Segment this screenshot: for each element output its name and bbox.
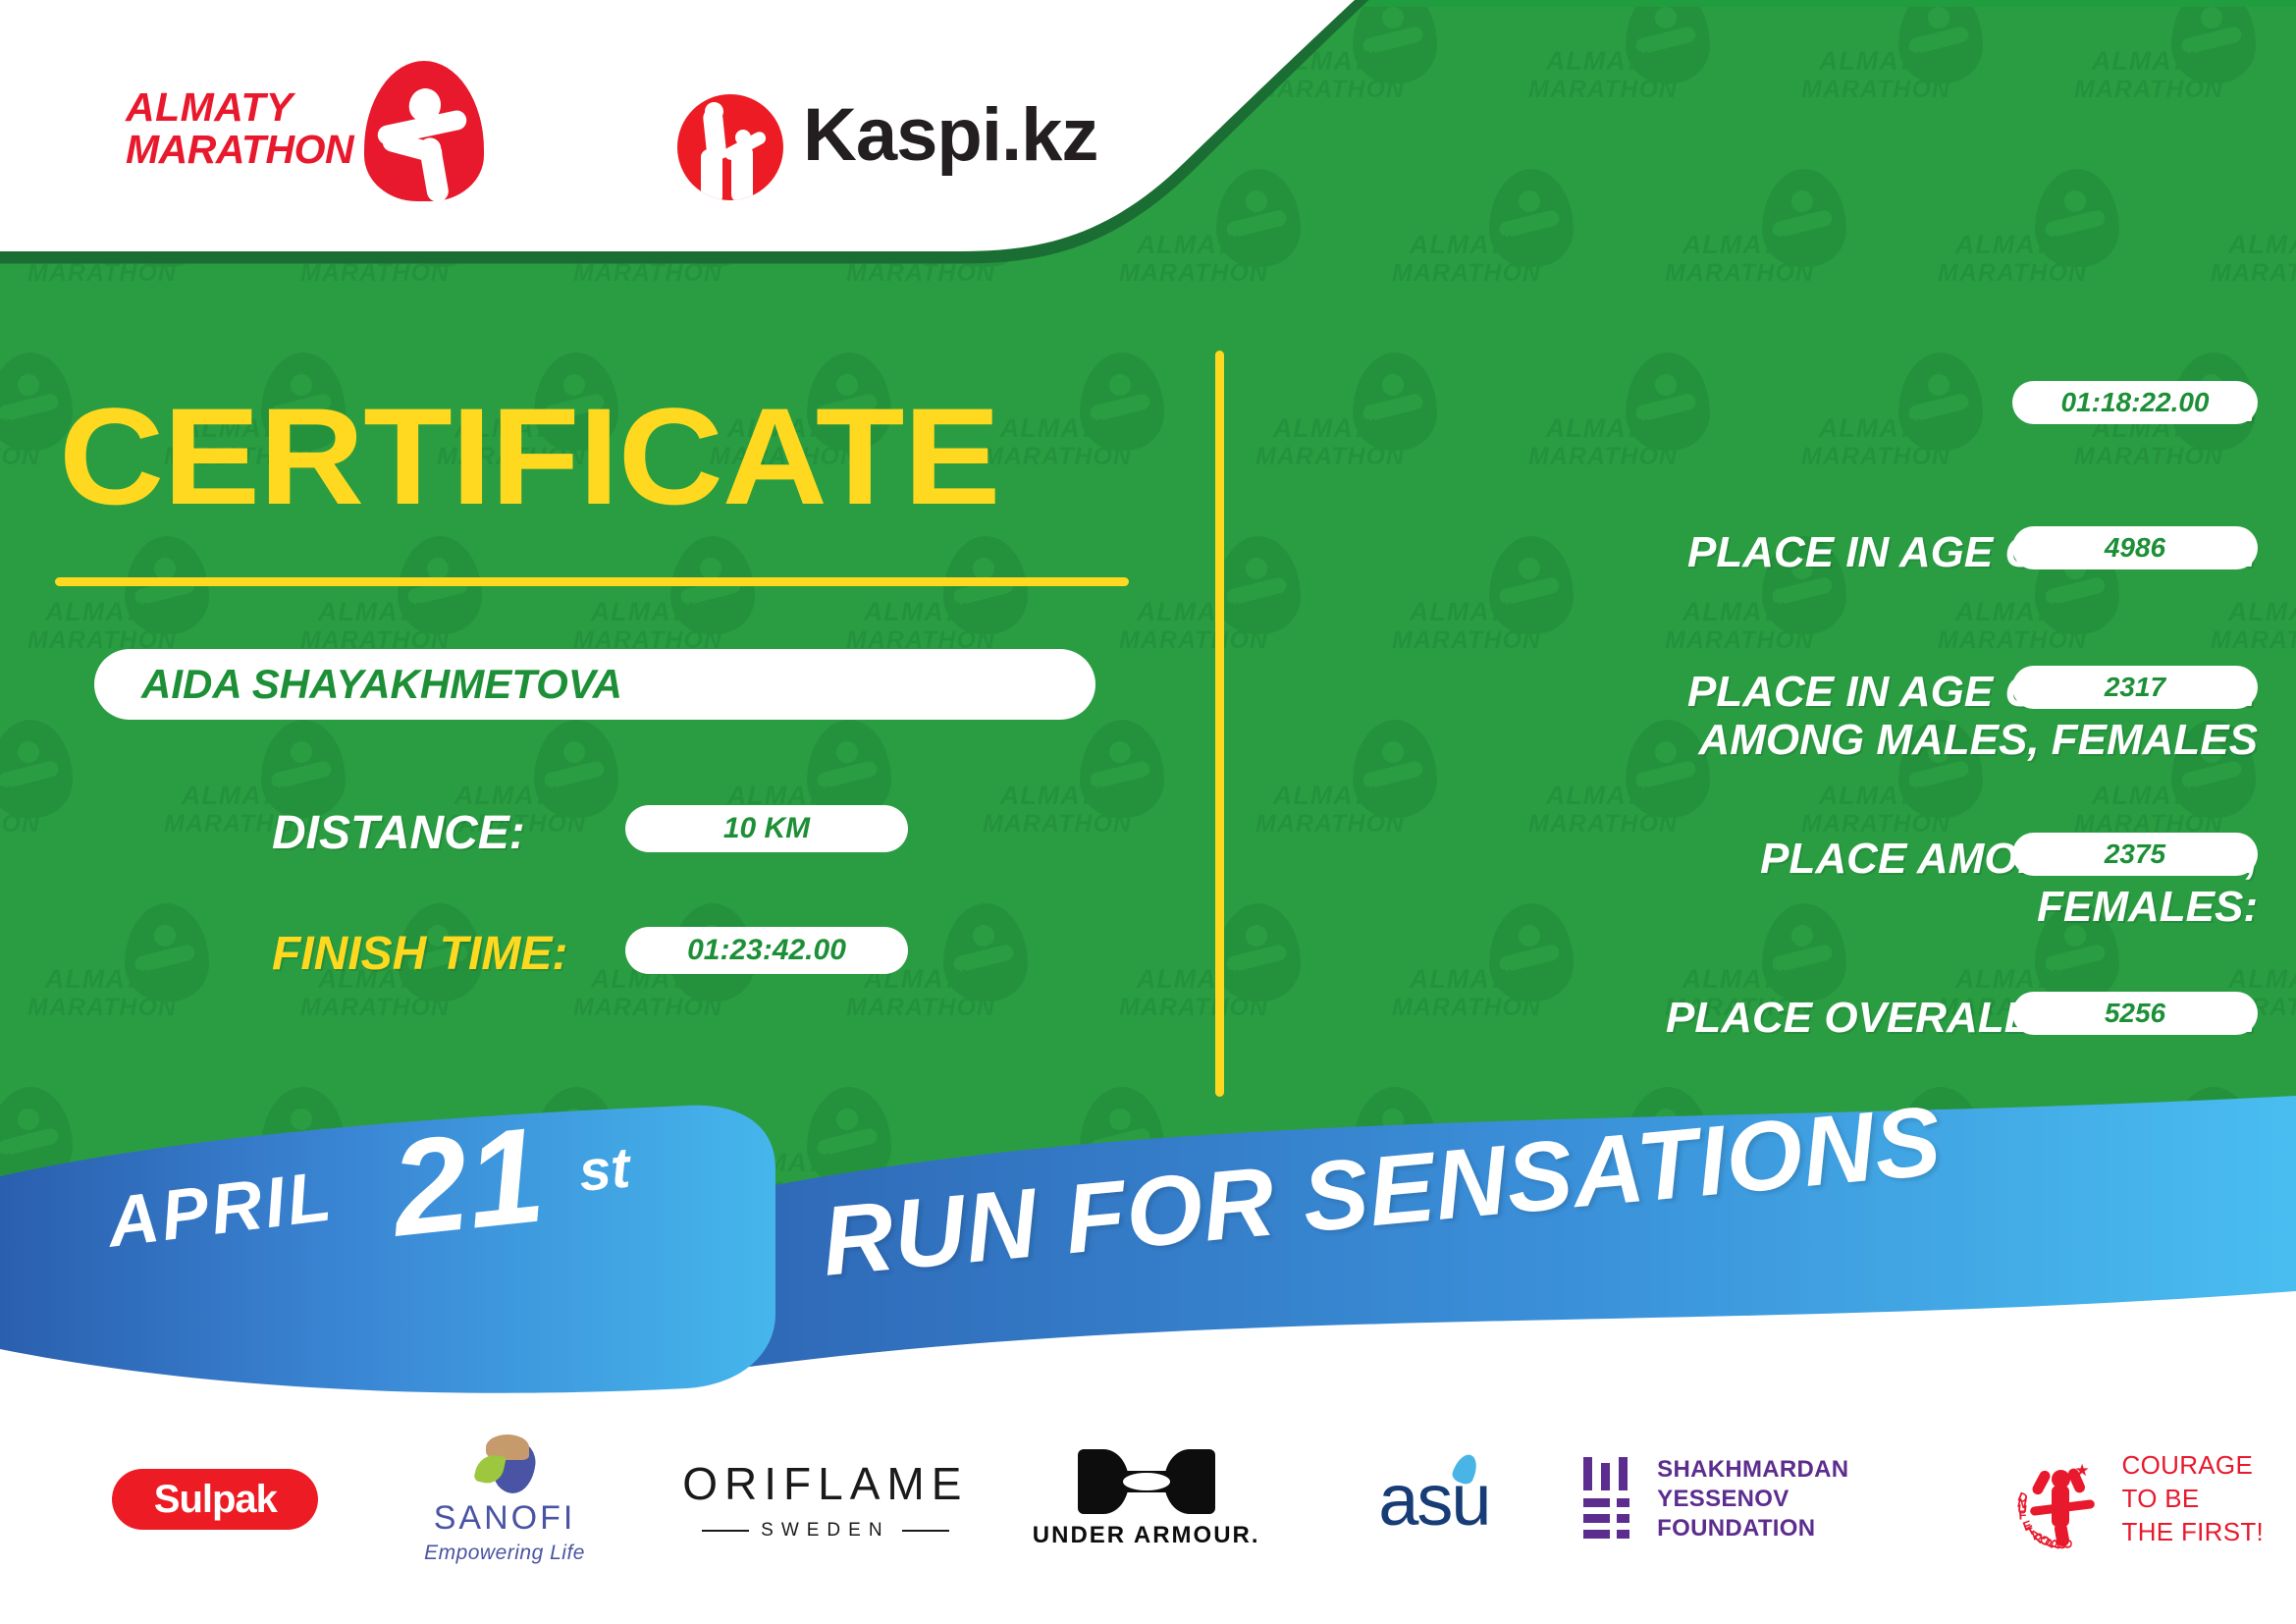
- asu-wordmark: asu: [1378, 1458, 1489, 1542]
- watermark-line2: MARATHON: [1929, 261, 2096, 286]
- watermark-tile: ALMATYMARATHON: [974, 345, 1200, 492]
- watermark-line2: MARATHON: [1247, 812, 1414, 837]
- sponsor-courage-fund: CORPORATE FUND ★ COURAGE TO BE THE FIRST…: [1982, 1449, 2296, 1548]
- column-divider: [1215, 351, 1224, 1097]
- watermark-tile: ALMATYMARATHON: [1520, 7, 1745, 125]
- watermark-line1: ALMATY: [1247, 783, 1414, 809]
- courage-line1: COURAGE: [2122, 1449, 2265, 1483]
- watermark-line1: ALMATY: [1929, 966, 2096, 993]
- watermark-line1: ALMATY: [1792, 783, 1959, 809]
- watermark-line2: MARATHON: [1656, 261, 1823, 286]
- stat-value: 01:18:22.00: [2012, 381, 2258, 424]
- courage-line2: TO BE: [2122, 1483, 2265, 1516]
- watermark-line1: ALMATY: [1656, 966, 1823, 993]
- finish-time-label: FINISH TIME:: [272, 931, 567, 978]
- watermark-line1: ALMATY: [564, 599, 731, 625]
- courage-line3: THE FIRST!: [2122, 1516, 2265, 1549]
- watermark-tile: ALMATYMARATHON: [1383, 161, 1609, 308]
- watermark-line1: ALMATY: [19, 599, 186, 625]
- stat-value: 4986: [2012, 526, 2258, 569]
- sponsor-sanofi: SANOFI Empowering Life: [366, 1435, 644, 1565]
- watermark-line1: ALMATY: [2065, 783, 2232, 809]
- yessenov-icon: [1583, 1457, 1637, 1542]
- watermark-line1: ALMATY: [2202, 599, 2296, 625]
- watermark-line2: MARATHON: [2202, 628, 2296, 653]
- sponsor-sulpak: Sulpak: [77, 1469, 354, 1530]
- oriflame-rule-right: [902, 1530, 949, 1532]
- watermark-line2: MARATHON: [2065, 78, 2232, 102]
- watermark-line1: ALMATY: [0, 783, 49, 809]
- watermark-tile: ALMATYMARATHON: [1656, 161, 1882, 308]
- marathon-line: MARATHON: [126, 129, 391, 171]
- watermark-line2: MARATHON: [19, 996, 186, 1020]
- watermark-line2: MARATHON: [1110, 996, 1277, 1020]
- watermark-line2: MARATHON: [564, 996, 731, 1020]
- watermark-tile: ALMATYMARATHON: [1247, 345, 1472, 492]
- watermark-line2: MARATHON: [0, 445, 49, 469]
- watermark-line2: MARATHON: [2065, 445, 2232, 469]
- stat-value: 2317: [2012, 666, 2258, 709]
- watermark-tile: ALMATYMARATHON: [1792, 7, 2018, 125]
- courage-wordmark: COURAGE TO BE THE FIRST!: [2122, 1449, 2265, 1548]
- watermark-line1: ALMATY: [1383, 232, 1550, 258]
- oriflame-sub: SWEDEN: [761, 1520, 889, 1542]
- kaspi-logo: Kaspi.kz: [677, 86, 1090, 214]
- yessenov-line1: SHAKHMARDAN YESSENOV: [1657, 1455, 1971, 1514]
- sulpak-logo: Sulpak: [112, 1469, 318, 1530]
- watermark-line2: MARATHON: [1792, 812, 1959, 837]
- distance-label: DISTANCE:: [272, 810, 525, 857]
- almaty-marathon-wordmark: ALMATY MARATHON: [126, 86, 391, 172]
- watermark-line1: ALMATY: [1110, 966, 1277, 993]
- courage-icon: CORPORATE FUND ★: [2014, 1452, 2109, 1546]
- watermark-tile: ALMATYMARATHON: [1247, 712, 1472, 859]
- watermark-line2: MARATHON: [1110, 628, 1277, 653]
- watermark-tile: ALMATYMARATHON: [0, 712, 108, 859]
- watermark-line2: MARATHON: [1656, 628, 1823, 653]
- page-title: CERTIFICATE: [59, 388, 999, 525]
- watermark-line2: MARATHON: [1929, 628, 2096, 653]
- watermark-line2: MARATHON: [1247, 445, 1414, 469]
- watermark-tile: ALMATYMARATHON: [2065, 7, 2291, 125]
- watermark-tile: ALMATYMARATHON: [19, 895, 244, 1043]
- sanofi-tagline: Empowering Life: [424, 1542, 585, 1565]
- yessenov-wordmark: SHAKHMARDAN YESSENOV FOUNDATION: [1657, 1455, 1971, 1543]
- watermark-tile: ALMATYMARATHON: [974, 712, 1200, 859]
- stat-label-line2: FEMALES:: [1512, 883, 2258, 931]
- ribbon-day: 21: [386, 1107, 550, 1257]
- almaty-line: ALMATY: [126, 86, 391, 129]
- ribbon-day-suffix: st: [576, 1135, 632, 1205]
- watermark-line1: ALMATY: [1929, 232, 2096, 258]
- watermark-tile: ALMATYMARATHON: [1929, 161, 2155, 308]
- watermark-line1: ALMATY: [292, 599, 458, 625]
- watermark-line1: ALMATY: [2202, 232, 2296, 258]
- watermark-tile: ALMATYMARATHON: [2202, 161, 2296, 308]
- watermark-line2: MARATHON: [292, 996, 458, 1020]
- watermark-line1: ALMATY: [837, 599, 1004, 625]
- watermark-line2: MARATHON: [837, 996, 1004, 1020]
- kaspi-people-icon: [677, 94, 783, 200]
- watermark-line1: ALMATY: [1656, 599, 1823, 625]
- under-armour-icon: [1078, 1449, 1215, 1514]
- certificate-canvas: ALMATYMARATHONALMATYMARATHONALMATYMARATH…: [0, 0, 2296, 1624]
- title-underline: [55, 577, 1129, 586]
- watermark-line1: ALMATY: [428, 783, 595, 809]
- watermark-line1: ALMATY: [1792, 48, 1959, 75]
- kaspi-wordmark: Kaspi.kz: [803, 98, 1097, 173]
- watermark-line1: ALMATY: [1929, 599, 2096, 625]
- stat-value: 5256: [2012, 992, 2258, 1035]
- under-armour-wordmark: UNDER ARMOUR.: [1033, 1522, 1260, 1549]
- sanofi-icon: [468, 1435, 541, 1495]
- watermark-line1: ALMATY: [1520, 48, 1686, 75]
- sponsor-footer: Sulpak SANOFI Empowering Life ORIFLAME S…: [0, 1426, 2296, 1573]
- yessenov-line2: FOUNDATION: [1657, 1514, 1971, 1543]
- oriflame-wordmark: ORIFLAME: [682, 1457, 968, 1510]
- stat-label-line2: AMONG MALES, FEMALES: [1512, 716, 2258, 764]
- finish-time-value: 01:23:42.00: [625, 927, 908, 974]
- watermark-line2: MARATHON: [2202, 261, 2296, 286]
- runner-drop-icon: [364, 61, 484, 201]
- sponsor-yessenov-foundation: SHAKHMARDAN YESSENOV FOUNDATION: [1583, 1455, 1972, 1543]
- watermark-line2: MARATHON: [1792, 78, 1959, 102]
- watermark-line2: MARATHON: [1520, 812, 1686, 837]
- stat-value: 2375: [2012, 833, 2258, 876]
- distance-value: 10 KM: [625, 805, 908, 852]
- watermark-line1: ALMATY: [1383, 966, 1550, 993]
- watermark-line1: ALMATY: [2065, 48, 2232, 75]
- watermark-line1: ALMATY: [19, 966, 186, 993]
- watermark-line1: ALMATY: [1110, 599, 1277, 625]
- sponsor-asu: asu: [1305, 1458, 1564, 1542]
- participant-name-field: AIDA SHAYAKHMETOVA: [94, 649, 1095, 720]
- watermark-line2: MARATHON: [1520, 445, 1686, 469]
- watermark-line2: MARATHON: [974, 812, 1141, 837]
- watermark-line1: ALMATY: [974, 783, 1141, 809]
- watermark-line1: ALMATY: [155, 783, 322, 809]
- sponsor-oriflame: ORIFLAME SWEDEN: [672, 1457, 978, 1542]
- sanofi-wordmark: SANOFI: [434, 1499, 576, 1538]
- watermark-line2: MARATHON: [1520, 78, 1686, 102]
- watermark-line2: MARATHON: [1383, 261, 1550, 286]
- almaty-marathon-logo: ALMATY MARATHON: [126, 61, 450, 198]
- watermark-line1: ALMATY: [1656, 232, 1823, 258]
- watermark-line1: ALMATY: [1520, 783, 1686, 809]
- oriflame-rule-left: [702, 1530, 749, 1532]
- sponsor-under-armour: UNDER ARMOUR.: [1007, 1449, 1285, 1549]
- watermark-line1: ALMATY: [1247, 415, 1414, 442]
- watermark-line1: ALMATY: [2202, 966, 2296, 993]
- watermark-line1: ALMATY: [0, 415, 49, 442]
- watermark-line2: MARATHON: [1383, 628, 1550, 653]
- watermark-line2: MARATHON: [1792, 445, 1959, 469]
- watermark-line1: ALMATY: [1383, 599, 1550, 625]
- watermark-line2: MARATHON: [0, 812, 49, 837]
